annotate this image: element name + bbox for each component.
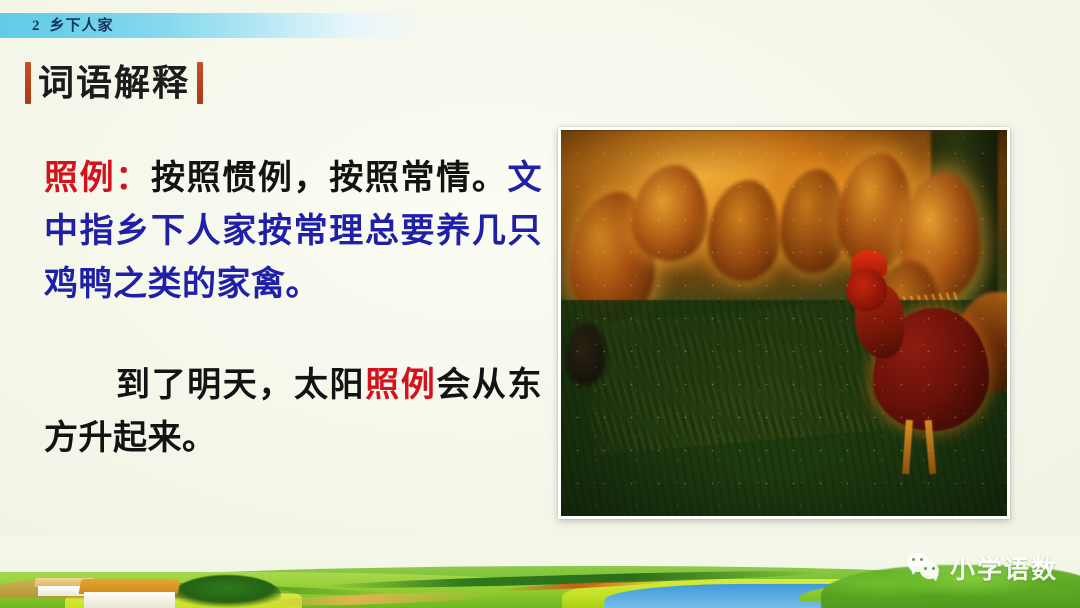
wechat-bubble-tail: [908, 567, 918, 576]
chicken-photo: [561, 130, 1007, 516]
section-title-group: 词语解释: [25, 62, 203, 104]
wechat-icon: [907, 553, 941, 583]
section-title: 词语解释: [31, 62, 197, 104]
definition-meaning: 按照惯例，按照常情。: [151, 158, 508, 198]
wechat-dot: [932, 567, 935, 570]
title-right-bar-icon: [197, 62, 203, 104]
example-text-before: 到了明天，太阳: [116, 365, 365, 405]
lesson-title: 乡下人家: [50, 17, 114, 34]
text-column: 照例：按照惯例，按照常情。文中指乡下人家按常理总要养几只鸡鸭之类的家禽。 到了明…: [44, 152, 542, 465]
example-highlight-first: 照: [365, 365, 401, 405]
definition-term: 照例：: [44, 158, 151, 198]
illustration-house: [80, 579, 179, 608]
house-wall: [84, 592, 175, 608]
chicken-photo-frame: [558, 127, 1010, 519]
watermark-label: 小学语数: [950, 550, 1058, 586]
wechat-watermark: 小学语数: [907, 550, 1058, 586]
illustration-bush-left: [173, 575, 281, 608]
page-header-title: 2乡下人家: [32, 14, 114, 38]
wechat-bubble-tail: [931, 574, 940, 582]
example-paragraph: 到了明天，太阳照例会从东方升起来。: [44, 359, 542, 465]
lesson-number: 2: [32, 18, 41, 34]
example-highlight-second: 例: [401, 365, 437, 405]
photo-vignette: [561, 130, 1007, 516]
wechat-dot: [924, 567, 927, 570]
definition-paragraph: 照例：按照惯例，按照常情。文中指乡下人家按常理总要养几只鸡鸭之类的家禽。: [44, 152, 542, 311]
